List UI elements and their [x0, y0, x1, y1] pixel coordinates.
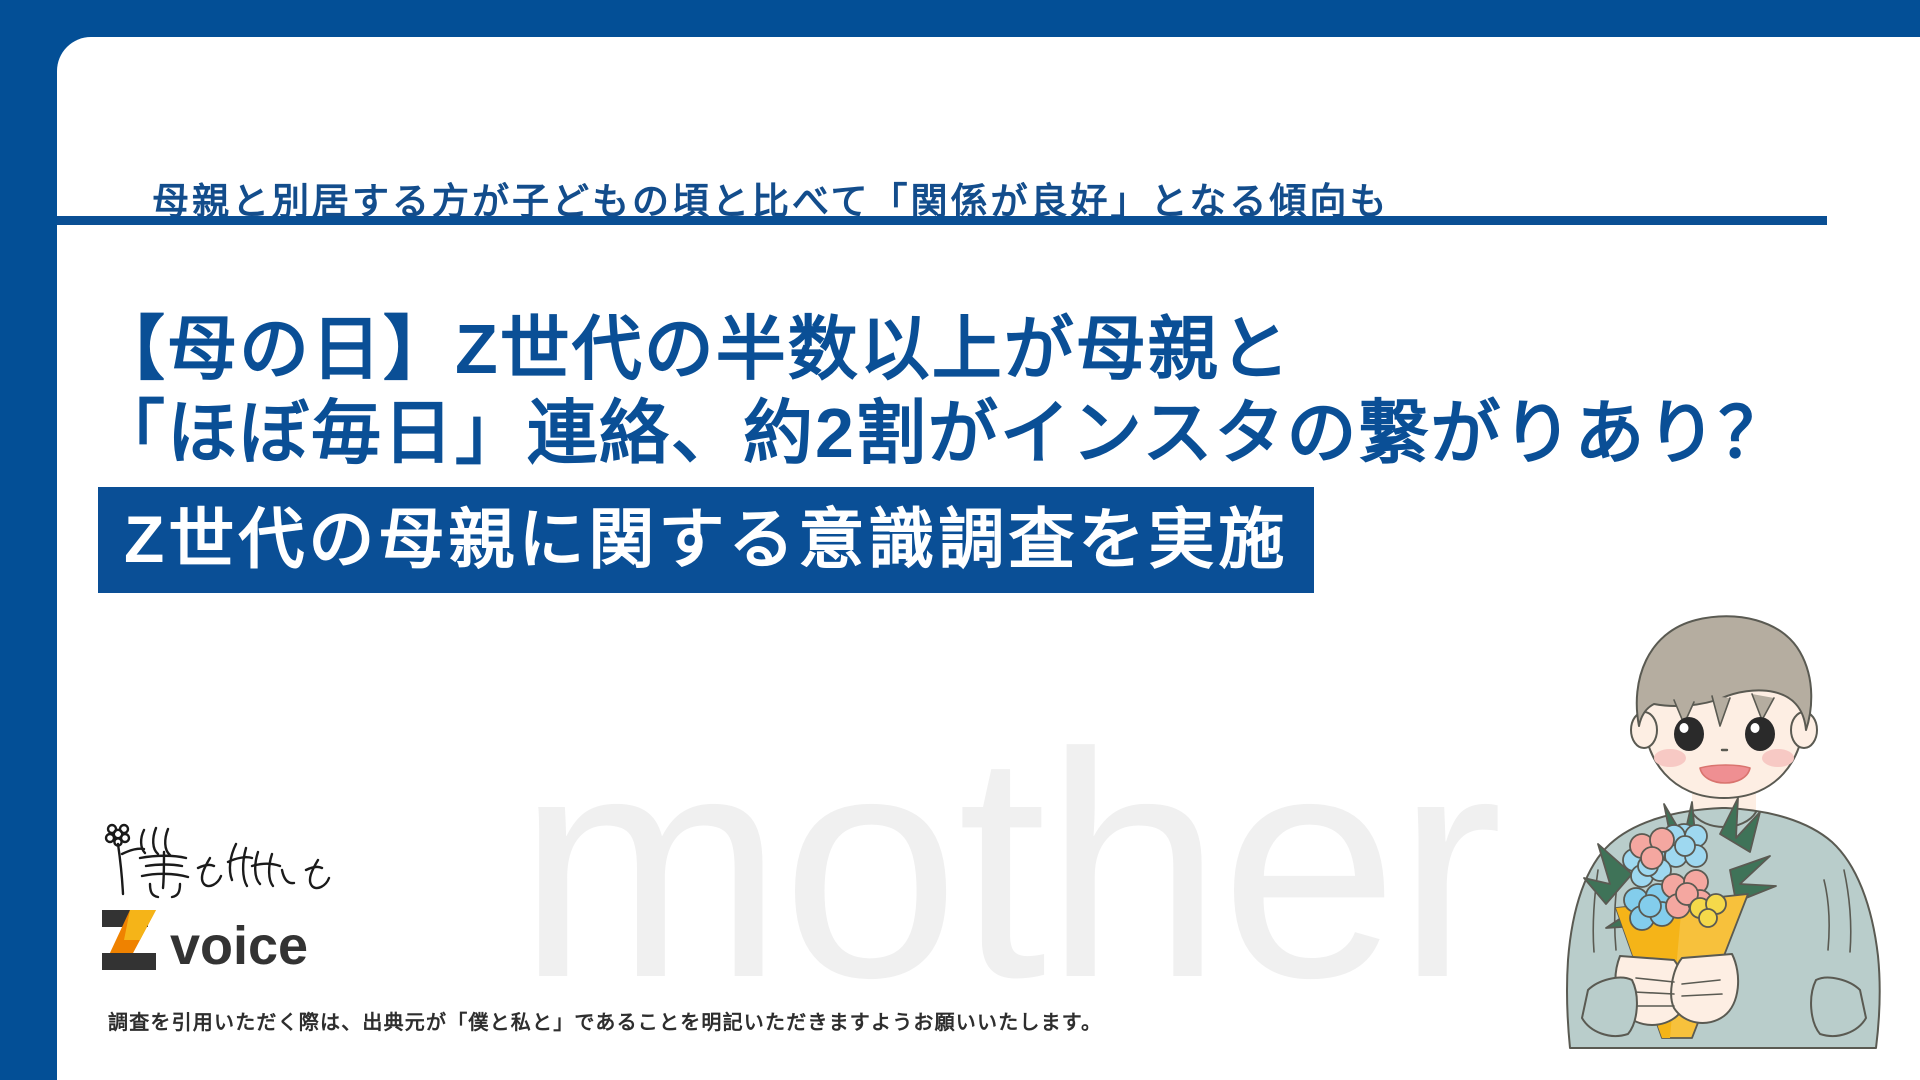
headline-highlight-band: Z世代の母親に関する意識調査を実施	[98, 487, 1314, 593]
brand-logo[interactable]: voice	[100, 822, 430, 972]
slide-canvas: mother 母親と別居する方が子どもの頃と比べて「関係が良好」となる傾向も 【…	[0, 0, 1920, 1080]
handwritten-logo-icon	[100, 822, 350, 902]
header-divider	[57, 216, 1827, 225]
page-title: 【母の日】Z世代の半数以上が母親と 「ほぼ毎日」連絡、約2割がインスタの繋がりあ…	[95, 307, 1885, 593]
svg-text:voice: voice	[170, 916, 308, 972]
citation-notice: 調査を引用いただく際は、出典元が「僕と私と」であることを明記いただきますようお願…	[108, 1006, 1102, 1035]
boy-holding-bouquet-illustration	[1524, 608, 1920, 1080]
zvoice-wordmark-icon: voice	[100, 908, 345, 972]
watermark-text: mother	[517, 705, 1501, 1025]
headline-line-1: 【母の日】Z世代の半数以上が母親と	[95, 307, 1885, 391]
headline-line-2: 「ほぼ毎日」連絡、約2割がインスタの繋がりあり？	[95, 391, 1885, 475]
